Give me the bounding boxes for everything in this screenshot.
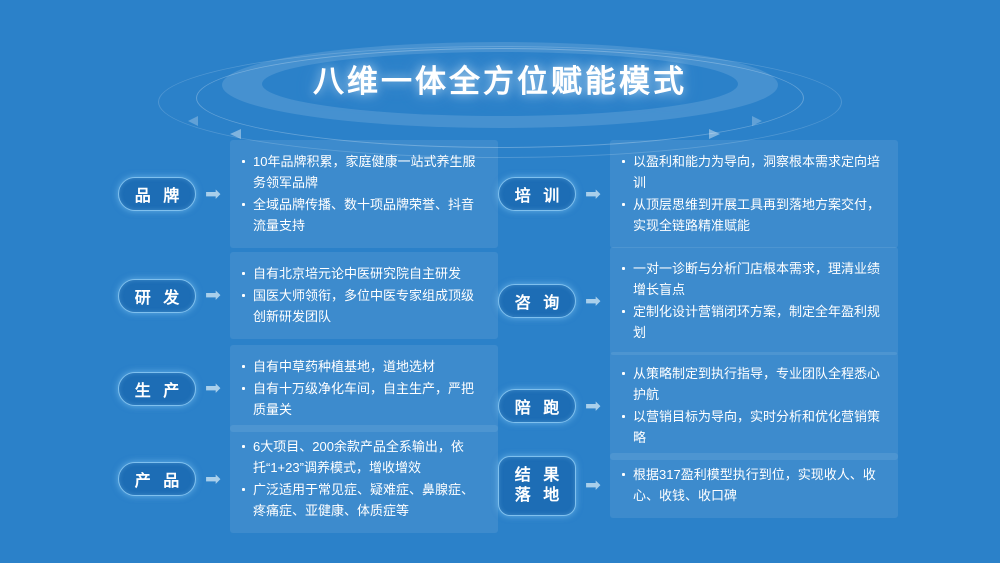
- list-item: 全域品牌传播、数十项品牌荣誉、抖音流量支持: [240, 194, 484, 236]
- step-arrow-icon: ➡: [196, 286, 230, 305]
- list-item: 根据317盈利模型执行到位，实现收人、收心、收钱、收口碑: [620, 464, 884, 506]
- orbit-arrow-outer-left-icon: [188, 116, 198, 126]
- row-consulting: 咨 询 ➡ 一对一诊断与分析门店根本需求，理清业绩增长盲点 定制化设计营销闭环方…: [498, 247, 898, 355]
- orbit-arrow-outer-right-icon: [752, 116, 762, 126]
- panel-production: 自有中草药种植基地，道地选材 自有十万级净化车间，自主生产，严把质量关: [230, 345, 498, 432]
- orbit-arrow-left-icon: [230, 129, 241, 139]
- panel-consulting: 一对一诊断与分析门店根本需求，理清业绩增长盲点 定制化设计营销闭环方案，制定全年…: [610, 247, 898, 355]
- list-item: 自有十万级净化车间，自主生产，严把质量关: [240, 378, 484, 420]
- pill-label-product[interactable]: 产 品: [118, 462, 196, 496]
- pill-label-consulting[interactable]: 咨 询: [498, 284, 576, 318]
- panel-coaching: 从策略制定到执行指导，专业团队全程悉心护航 以营销目标为导向，实时分析和优化营销…: [610, 352, 898, 460]
- row-training: 培 训 ➡ 以盈利和能力为导向，洞察根本需求定向培训 从顶层思维到开展工具再到落…: [498, 140, 898, 248]
- pill-label-results[interactable]: 结 果 落 地: [498, 456, 576, 516]
- pill-label-results-line1: 结 果: [511, 466, 563, 486]
- panel-training: 以盈利和能力为导向，洞察根本需求定向培训 从顶层思维到开展工具再到落地方案交付，…: [610, 140, 898, 248]
- step-arrow-icon: ➡: [576, 476, 610, 495]
- step-arrow-icon: ➡: [196, 379, 230, 398]
- infographic-slide: 八维一体全方位赋能模式 品 牌 ➡ 10年品牌积累，家庭健康一站式养生服务领军品…: [0, 0, 1000, 563]
- step-arrow-icon: ➡: [196, 470, 230, 489]
- list-item: 国医大师领衔，多位中医专家组成顶级创新研发团队: [240, 285, 484, 327]
- row-rd: 研 发 ➡ 自有北京培元论中医研究院自主研发 国医大师领衔，多位中医专家组成顶级…: [118, 252, 498, 339]
- step-arrow-icon: ➡: [576, 397, 610, 416]
- list-item: 从策略制定到执行指导，专业团队全程悉心护航: [620, 363, 884, 405]
- panel-rd: 自有北京培元论中医研究院自主研发 国医大师领衔，多位中医专家组成顶级创新研发团队: [230, 252, 498, 339]
- list-item: 自有北京培元论中医研究院自主研发: [240, 263, 484, 284]
- list-item: 自有中草药种植基地，道地选材: [240, 356, 484, 377]
- panel-product: 6大项目、200余款产品全系输出，依托“1+23”调养模式，增收增效 广泛适用于…: [230, 425, 498, 533]
- panel-brand: 10年品牌积累，家庭健康一站式养生服务领军品牌 全域品牌传播、数十项品牌荣誉、抖…: [230, 140, 498, 248]
- row-coaching: 陪 跑 ➡ 从策略制定到执行指导，专业团队全程悉心护航 以营销目标为导向，实时分…: [498, 352, 898, 460]
- title-decoration: 八维一体全方位赋能模式: [0, 0, 1000, 160]
- list-item: 以营销目标为导向，实时分析和优化营销策略: [620, 406, 884, 448]
- pill-label-training[interactable]: 培 训: [498, 177, 576, 211]
- pill-label-production[interactable]: 生 产: [118, 372, 196, 406]
- list-item: 定制化设计营销闭环方案，制定全年盈利规划: [620, 301, 884, 343]
- pill-label-results-line2: 落 地: [511, 486, 563, 506]
- pill-label-rd[interactable]: 研 发: [118, 279, 196, 313]
- row-product: 产 品 ➡ 6大项目、200余款产品全系输出，依托“1+23”调养模式，增收增效…: [118, 425, 498, 533]
- orbit-arrow-right-icon: [709, 129, 720, 139]
- page-title: 八维一体全方位赋能模式: [0, 56, 1000, 101]
- row-brand: 品 牌 ➡ 10年品牌积累，家庭健康一站式养生服务领军品牌 全域品牌传播、数十项…: [118, 140, 498, 248]
- pill-label-coaching[interactable]: 陪 跑: [498, 389, 576, 423]
- list-item: 一对一诊断与分析门店根本需求，理清业绩增长盲点: [620, 258, 884, 300]
- list-item: 广泛适用于常见症、疑难症、鼻腺症、疼痛症、亚健康、体质症等: [240, 479, 484, 521]
- list-item: 以盈利和能力为导向，洞察根本需求定向培训: [620, 151, 884, 193]
- panel-results: 根据317盈利模型执行到位，实现收人、收心、收钱、收口碑: [610, 453, 898, 518]
- list-item: 10年品牌积累，家庭健康一站式养生服务领军品牌: [240, 151, 484, 193]
- step-arrow-icon: ➡: [576, 292, 610, 311]
- pill-label-brand[interactable]: 品 牌: [118, 177, 196, 211]
- row-results: 结 果 落 地 ➡ 根据317盈利模型执行到位，实现收人、收心、收钱、收口碑: [498, 453, 898, 518]
- list-item: 6大项目、200余款产品全系输出，依托“1+23”调养模式，增收增效: [240, 436, 484, 478]
- step-arrow-icon: ➡: [196, 185, 230, 204]
- list-item: 从顶层思维到开展工具再到落地方案交付，实现全链路精准赋能: [620, 194, 884, 236]
- row-production: 生 产 ➡ 自有中草药种植基地，道地选材 自有十万级净化车间，自主生产，严把质量…: [118, 345, 498, 432]
- step-arrow-icon: ➡: [576, 185, 610, 204]
